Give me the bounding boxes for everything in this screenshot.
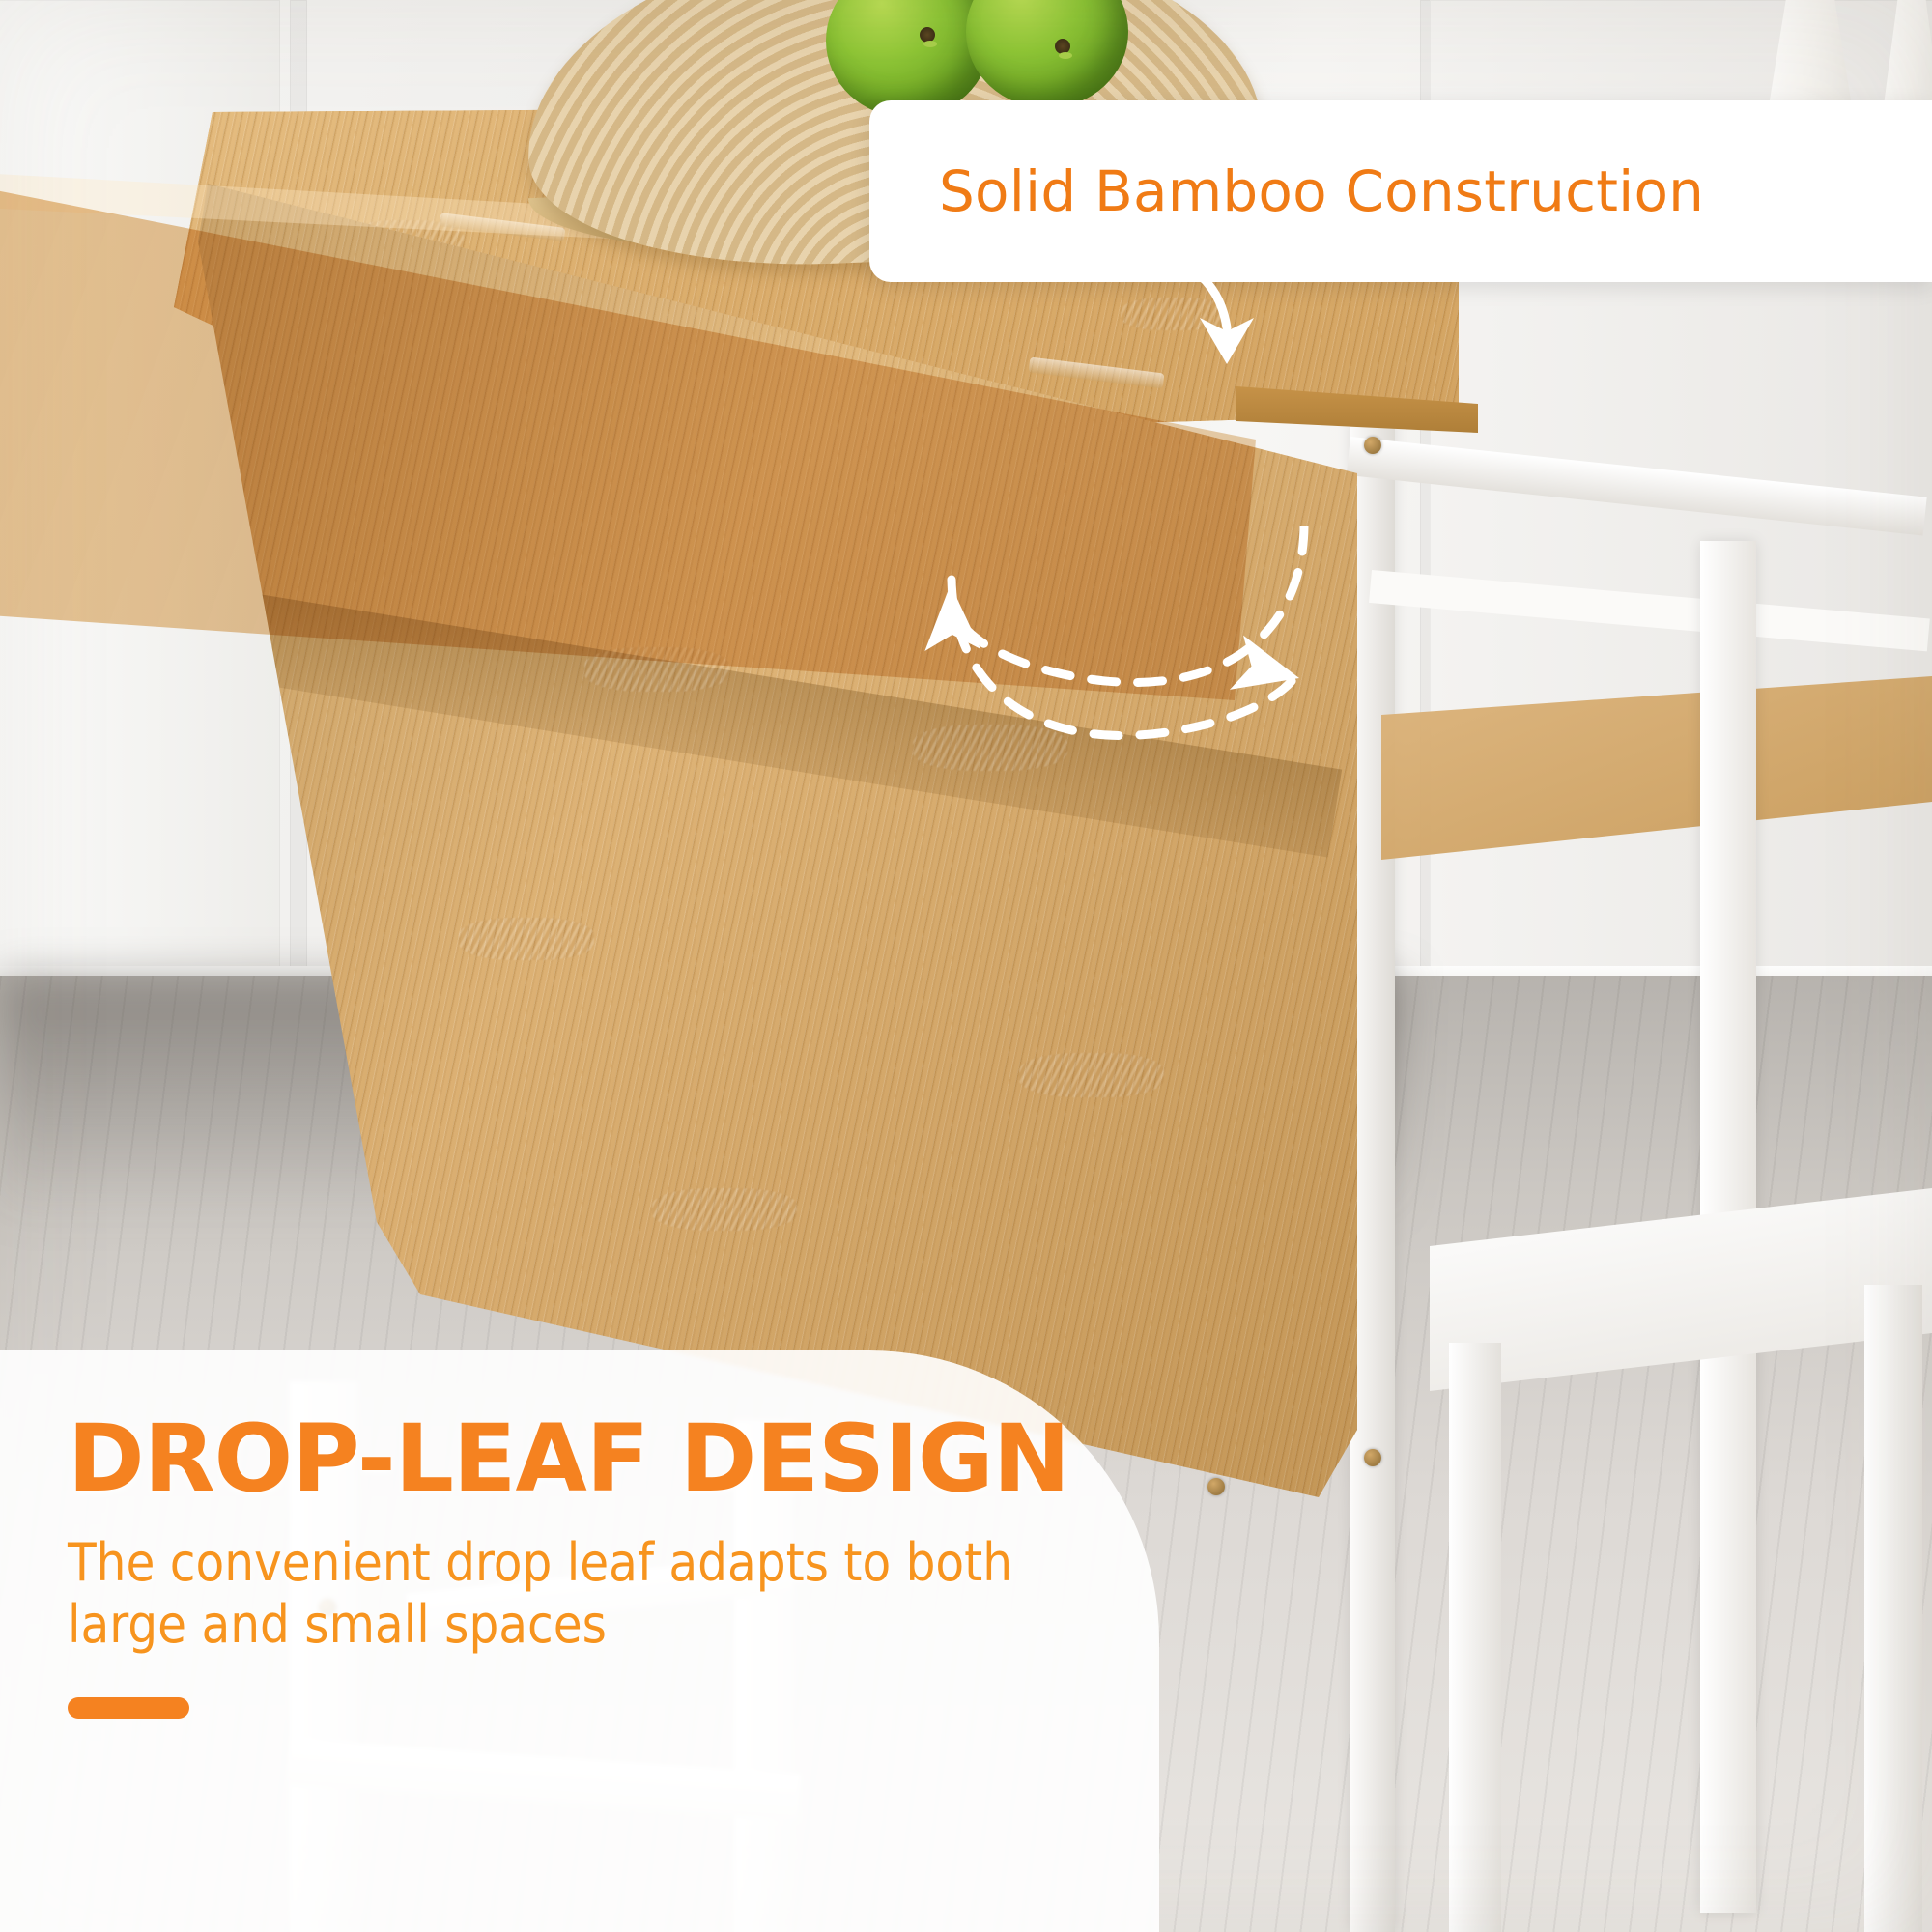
banner-subtitle-line-1: The convenient drop leaf adapts to both bbox=[68, 1532, 1043, 1594]
callout-solid-bamboo: Solid Bamboo Construction bbox=[869, 100, 1932, 282]
screw bbox=[1364, 437, 1381, 454]
product-infographic: Solid Bamboo Construction DROP-LEAF DESI… bbox=[0, 0, 1932, 1932]
bottom-banner: DROP-LEAF DESIGN The convenient drop lea… bbox=[0, 1350, 1159, 1932]
bamboo-grain-node bbox=[652, 1188, 797, 1231]
banner-subtitle-line-2: large and small spaces bbox=[68, 1594, 1043, 1656]
lime-left-stem bbox=[920, 27, 935, 43]
screw bbox=[1207, 1478, 1225, 1495]
screw bbox=[1364, 1449, 1381, 1466]
callout-label: Solid Bamboo Construction bbox=[869, 158, 1704, 224]
lime-right-stem bbox=[1055, 39, 1070, 54]
stool-leg-left bbox=[1449, 1343, 1501, 1932]
bamboo-grain-node bbox=[459, 918, 594, 960]
banner-content: DROP-LEAF DESIGN The convenient drop lea… bbox=[68, 1412, 1092, 1719]
banner-headline: DROP-LEAF DESIGN bbox=[68, 1412, 1092, 1507]
banner-accent-dash bbox=[68, 1697, 189, 1719]
stool-leg-right bbox=[1864, 1285, 1922, 1932]
bamboo-grain-node bbox=[1121, 298, 1227, 330]
bamboo-grain-node bbox=[1019, 1053, 1164, 1097]
bamboo-grain-node bbox=[913, 724, 1067, 771]
